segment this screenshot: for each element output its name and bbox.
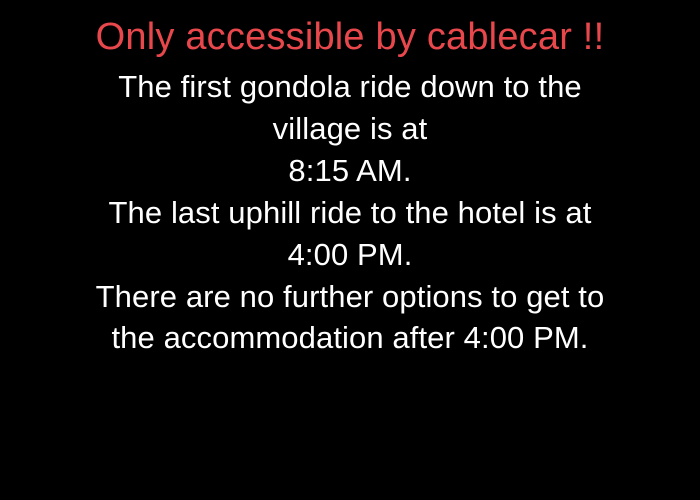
notice-body-line: 4:00 PM. (10, 234, 690, 276)
notice-body-line: 8:15 AM. (10, 150, 690, 192)
notice-body-line: the accommodation after 4:00 PM. (10, 317, 690, 359)
notice-body-line: The first gondola ride down to the (10, 66, 690, 108)
notice-body-line: There are no further options to get to (10, 276, 690, 318)
notice-body-line: The last uphill ride to the hotel is at (10, 192, 690, 234)
notice-body-line: village is at (10, 108, 690, 150)
notice-headline: Only accessible by cablecar !! (30, 14, 670, 60)
notice-body: The first gondola ride down to the villa… (10, 66, 690, 359)
notice-panel: Only accessible by cablecar !! The first… (0, 0, 700, 500)
